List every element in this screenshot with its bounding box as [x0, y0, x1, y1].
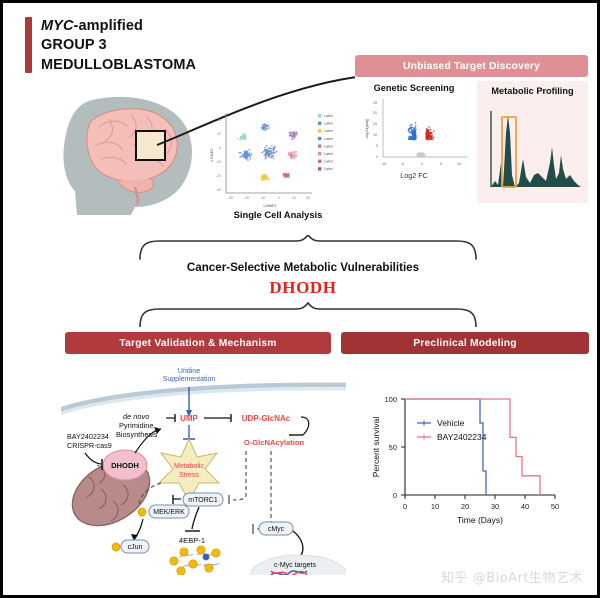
uridine-label-line1: Uridine — [178, 368, 200, 375]
title-gene: MYC — [41, 18, 74, 34]
svg-text:10: 10 — [373, 133, 377, 137]
svg-text:-30: -30 — [216, 188, 221, 192]
svg-text:0: 0 — [421, 162, 423, 166]
center-headline: Cancer-Selective Metabolic Vulnerabiliti… — [3, 261, 600, 274]
svg-text:10: 10 — [457, 162, 461, 166]
svg-text:20: 20 — [461, 502, 469, 511]
svg-text:5: 5 — [376, 144, 378, 148]
metabolic-stress-line2: Stress — [179, 472, 199, 479]
single-cell-caption: Single Cell Analysis — [208, 209, 348, 220]
dhodh-node-label: DHODH — [111, 461, 139, 470]
title-line1-rest: -amplified — [74, 18, 143, 34]
converging-brace-top — [138, 235, 478, 261]
udp-glcnac-label: UDP-GlcNAc — [242, 414, 291, 423]
svg-text:40: 40 — [521, 502, 529, 511]
svg-text:Label: Label — [324, 137, 333, 141]
svg-text:Label: Label — [324, 167, 333, 171]
cmyc-targets-label: c-Myc targets — [274, 562, 317, 569]
metabolic-profiling-card: Metabolic Profiling — [477, 81, 588, 203]
metabolic-stress-line1: Metabolic — [174, 463, 204, 470]
tsne-xlabel: t-SNE1 — [264, 203, 278, 208]
inhibitor-label-line2: CRISPR-cas9 — [67, 441, 112, 450]
svg-text:25: 25 — [373, 101, 377, 105]
svg-text:20: 20 — [373, 111, 377, 115]
svg-text:Label: Label — [324, 152, 333, 156]
inhibitor-label-line1: BAY2402234 — [67, 432, 109, 441]
svg-text:20: 20 — [217, 118, 221, 122]
survival-ylabel: Percent survival — [371, 417, 381, 478]
survival-legend-label-1: BAY2402234 — [437, 432, 487, 442]
preclinical-modeling-header: Preclinical Modeling — [341, 332, 589, 354]
mtorc1-label: mTORC1 — [188, 497, 218, 504]
cjun-label: cJun — [128, 544, 143, 551]
uridine-label-line2: Supplementation — [163, 376, 216, 383]
svg-text:0: 0 — [403, 502, 407, 511]
diverging-brace-bottom — [138, 301, 478, 327]
dhodh-target-label: DHODH — [3, 278, 600, 298]
metabolic-profiling-title: Metabolic Profiling — [477, 86, 588, 96]
svg-text:Label: Label — [324, 129, 333, 133]
genetic-screening-title: Genetic Screening — [355, 83, 473, 93]
svg-text:Label: Label — [324, 160, 333, 164]
eif4ebp1-label: 4EBP-1 — [179, 536, 205, 545]
svg-text:100: 100 — [384, 395, 397, 404]
svg-text:50: 50 — [389, 443, 397, 452]
svg-text:10: 10 — [217, 132, 221, 136]
svg-text:-10: -10 — [216, 160, 221, 164]
tsne-ylabel: t-SNE2 — [209, 148, 214, 162]
mek-erk-label: MEK/ERK — [153, 509, 185, 516]
ump-label: UMP — [180, 414, 198, 423]
volcano-xlabel: Log2 FC — [355, 171, 473, 180]
svg-text:-log10(padj): -log10(padj) — [365, 118, 369, 139]
discovery-header-bar: Unbiased Target Discovery — [355, 55, 588, 77]
survival-legend-label-0: Vehicle — [437, 418, 465, 428]
o-glcnacylation-label: O-GlcNAcylation — [244, 438, 305, 447]
svg-text:0: 0 — [278, 196, 280, 200]
svg-text:-20: -20 — [216, 174, 221, 178]
svg-text:-20: -20 — [244, 196, 249, 200]
pyrimidine-label: Pyrimidine — [119, 421, 154, 430]
watermark: 知乎 @BioArt生物艺术 — [441, 567, 583, 586]
svg-text:-5: -5 — [401, 162, 404, 166]
target-validation-header: Target Validation & Mechanism — [65, 332, 331, 354]
title-line2: GROUP 3 — [41, 36, 196, 55]
de-novo-label: de novo — [123, 412, 149, 421]
svg-text:-10: -10 — [381, 162, 386, 166]
svg-text:50: 50 — [551, 502, 559, 511]
svg-text:5: 5 — [440, 162, 442, 166]
svg-text:30: 30 — [491, 502, 499, 511]
single-cell-tsne-plot: -30-20-10 01020 -30-20-10 01020 t-SNE1 t… — [208, 107, 348, 217]
volcano-plot: 0510 152025 -10-50 510 -log10(padj) — [359, 95, 471, 171]
svg-text:10: 10 — [431, 502, 439, 511]
svg-text:-30: -30 — [228, 196, 233, 200]
svg-text:0: 0 — [219, 146, 221, 150]
survival-xlabel: Time (Days) — [457, 515, 503, 525]
title-accent-bar — [25, 17, 32, 73]
svg-text:Label: Label — [324, 144, 333, 148]
svg-text:Label: Label — [324, 114, 333, 118]
unbiased-target-discovery-panel: Unbiased Target Discovery Genetic Screen… — [355, 55, 588, 210]
svg-text:Label: Label — [324, 122, 333, 126]
mechanism-pathway-diagram: Uridine Supplementation de novo Pyrimidi… — [61, 365, 346, 575]
svg-text:20: 20 — [306, 196, 310, 200]
svg-text:0: 0 — [393, 491, 397, 500]
svg-text:15: 15 — [373, 122, 377, 126]
chromatogram — [485, 103, 581, 195]
svg-text:-10: -10 — [260, 196, 265, 200]
svg-text:10: 10 — [292, 196, 296, 200]
figure-canvas: MYC-amplified GROUP 3 MEDULLOBLASTOMA — [0, 0, 600, 598]
cmyc-label: cMyc — [268, 526, 285, 533]
svg-text:0: 0 — [376, 155, 378, 159]
survival-curve-plot: 0 50 100 0 10 20 30 40 50 Time (Days) Pe… — [359, 389, 587, 549]
